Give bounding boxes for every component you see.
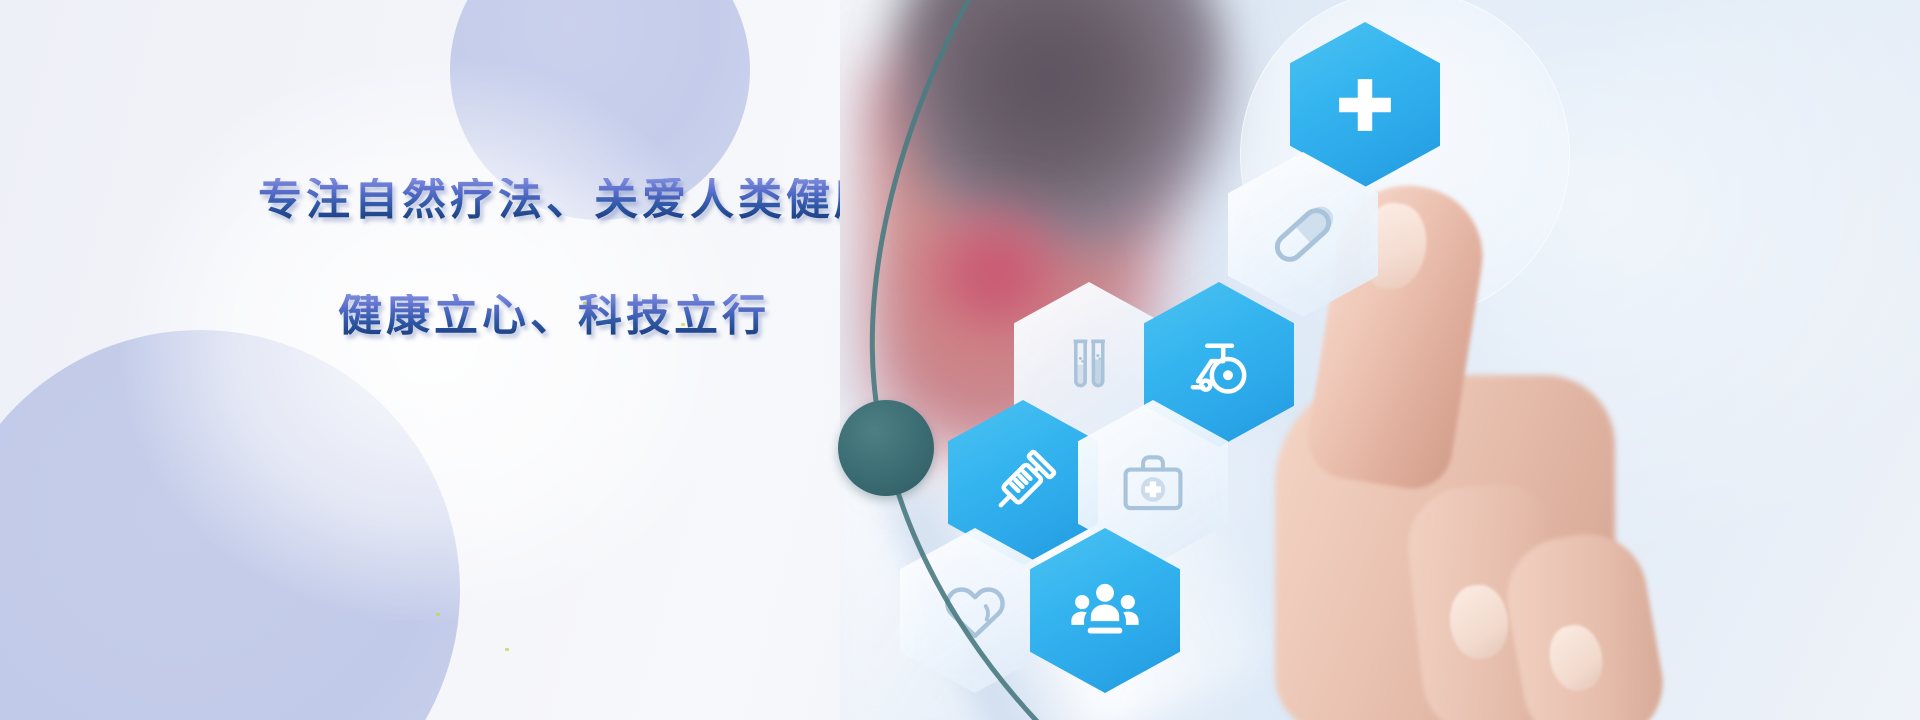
headline-line-1: 专注自然疗法、关爱人类健康 bbox=[258, 178, 878, 222]
headline-block: 专注自然疗法、关爱人类健康 健康立心、科技立行 bbox=[258, 178, 878, 338]
background-speck bbox=[505, 648, 509, 651]
headline-line-2: 健康立心、科技立行 bbox=[338, 294, 878, 338]
hero-banner: 专注自然疗法、关爱人类健康 健康立心、科技立行 bbox=[0, 0, 1920, 720]
decorative-circle-bottom bbox=[0, 330, 460, 720]
teal-arc-node bbox=[838, 400, 934, 496]
background-speck bbox=[436, 613, 440, 616]
